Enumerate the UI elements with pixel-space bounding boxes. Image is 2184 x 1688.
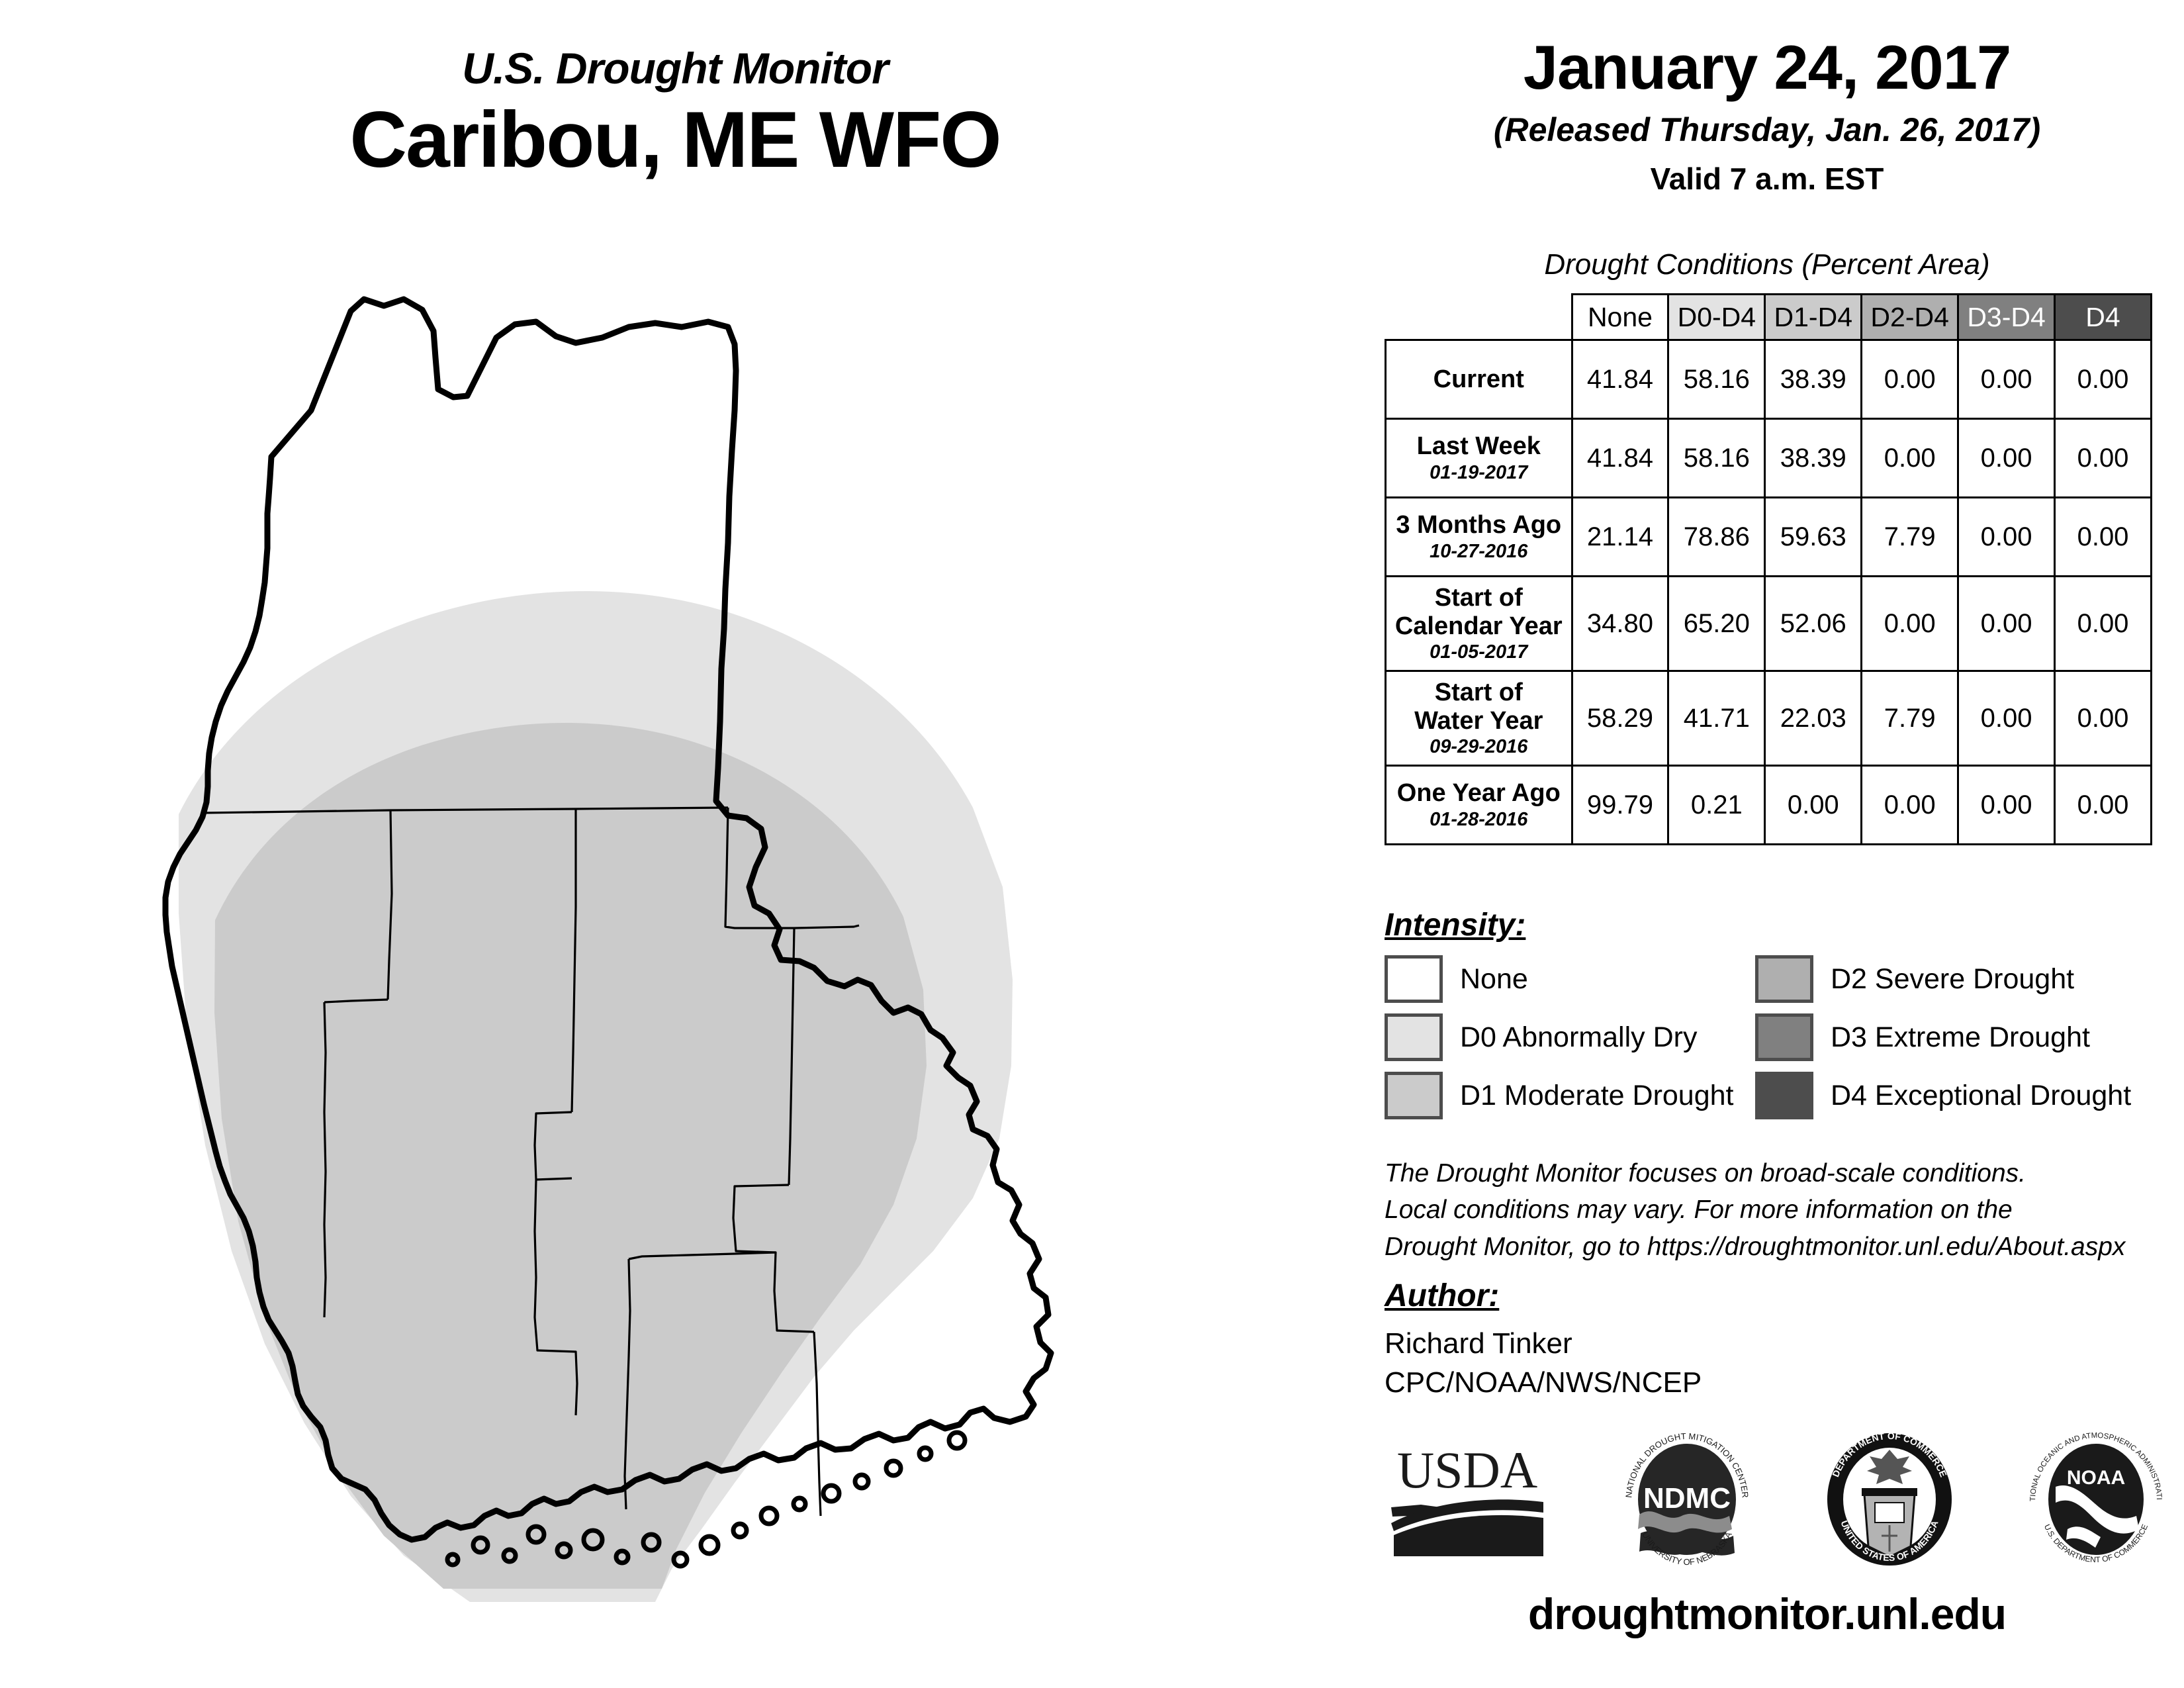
date-block: January 24, 2017 (Released Thursday, Jan… [1350, 36, 2184, 194]
table-cell: 58.16 [1668, 419, 1765, 498]
intensity-legend: Intensity: NoneD2 Severe DroughtD0 Abnor… [1385, 907, 2165, 1119]
table-cell: 0.00 [1958, 419, 2055, 498]
svg-text:NOAA: NOAA [2067, 1467, 2125, 1489]
table-cell: 52.06 [1765, 577, 1862, 671]
table-cell: 0.00 [1958, 340, 2055, 419]
table-cell: 0.00 [1958, 766, 2055, 845]
program-title: U.S. Drought Monitor [0, 46, 1350, 90]
svg-text:NDMC: NDMC [1643, 1482, 1731, 1515]
table-cell: 0.00 [1862, 419, 1958, 498]
author-heading: Author: [1385, 1278, 1499, 1314]
table-row: One Year Ago01-28-201699.790.210.000.000… [1386, 766, 2152, 845]
row-date: 09-29-2016 [1389, 736, 1569, 757]
table-cell: 7.79 [1862, 498, 1958, 577]
legend-label: D4 Exceptional Drought [1831, 1080, 2131, 1112]
legend-item: None [1385, 955, 1755, 1003]
table-cell: 21.14 [1572, 498, 1668, 577]
drought-region-d1 [214, 723, 927, 1589]
row-date: 01-05-2017 [1389, 641, 1569, 663]
table-header: NoneD0-D4D1-D4D2-D4D3-D4D4 [1386, 295, 2152, 340]
row-label: 3 Months Ago10-27-2016 [1386, 498, 1572, 577]
map-svg [73, 258, 1297, 1615]
table-col-header-d3-d4: D3-D4 [1958, 295, 2055, 340]
doc-logo: DEPARTMENT OF COMMERCE UNITED STATES OF … [1823, 1430, 1956, 1569]
svg-text:USDA: USDA [1397, 1441, 1537, 1499]
table-col-header-d0-d4: D0-D4 [1668, 295, 1765, 340]
table-cell: 0.00 [2055, 498, 2152, 577]
table-col-header-d1-d4: D1-D4 [1765, 295, 1862, 340]
legend-swatch [1755, 1013, 1813, 1061]
row-label: Last Week01-19-2017 [1386, 419, 1572, 498]
release-date: (Released Thursday, Jan. 26, 2017) [1350, 113, 2184, 146]
author-name: Richard Tinker [1385, 1324, 1702, 1363]
disclaimer-line: Local conditions may vary. For more info… [1385, 1192, 2179, 1228]
legend-swatch [1385, 1072, 1443, 1119]
table-cell: 59.63 [1765, 498, 1862, 577]
table-row: Last Week01-19-201741.8458.1638.390.000.… [1386, 419, 2152, 498]
table-row: Start ofCalendar Year01-05-201734.8065.2… [1386, 577, 2152, 671]
row-label: Start ofCalendar Year01-05-2017 [1386, 577, 1572, 671]
table-cell: 0.00 [2055, 671, 2152, 766]
row-label: Start ofWater Year09-29-2016 [1386, 671, 1572, 766]
disclaimer-line: The Drought Monitor focuses on broad-sca… [1385, 1155, 2179, 1192]
disclaimer-line: Drought Monitor, go to https://droughtmo… [1385, 1229, 2179, 1265]
table-cell: 0.00 [1958, 577, 2055, 671]
row-date: 01-19-2017 [1389, 462, 1569, 483]
table-header-row: NoneD0-D4D1-D4D2-D4D3-D4D4 [1386, 295, 2152, 340]
table-cell: 58.29 [1572, 671, 1668, 766]
valid-date: January 24, 2017 [1350, 36, 2184, 99]
table-cell: 41.84 [1572, 419, 1668, 498]
table-cell: 0.00 [1765, 766, 1862, 845]
author-affiliation: CPC/NOAA/NWS/NCEP [1385, 1363, 1702, 1402]
table-body: Current41.8458.1638.390.000.000.00Last W… [1386, 340, 2152, 845]
table-cell: 0.00 [1862, 766, 1958, 845]
table-caption: Drought Conditions (Percent Area) [1350, 248, 2184, 281]
table-cell: 99.79 [1572, 766, 1668, 845]
row-label: Current [1386, 340, 1572, 419]
table-cell: 34.80 [1572, 577, 1668, 671]
map-title-block: U.S. Drought Monitor Caribou, ME WFO [0, 46, 1350, 181]
author-info: Richard Tinker CPC/NOAA/NWS/NCEP [1385, 1324, 1702, 1403]
legend-swatch [1755, 1072, 1813, 1119]
table-col-header-none: None [1572, 295, 1668, 340]
table-cell: 65.20 [1668, 577, 1765, 671]
table-cell: 78.86 [1668, 498, 1765, 577]
noaa-logo: NOAA NATIONAL OCEANIC AND ATMOSPHERIC AD… [2026, 1430, 2165, 1569]
table-cell: 0.00 [2055, 577, 2152, 671]
info-panel: January 24, 2017 (Released Thursday, Jan… [1350, 0, 2184, 1688]
table-corner-cell [1386, 295, 1572, 340]
legend-swatch [1385, 955, 1443, 1003]
legend-label: D1 Moderate Drought [1460, 1080, 1734, 1112]
legend-label: D2 Severe Drought [1831, 963, 2074, 996]
table-cell: 0.00 [1958, 498, 2055, 577]
intensity-heading: Intensity: [1385, 907, 1525, 943]
page-title: Caribou, ME WFO [0, 98, 1350, 181]
table-cell: 41.71 [1668, 671, 1765, 766]
map-panel: U.S. Drought Monitor Caribou, ME WFO [0, 0, 1350, 1688]
legend-label: D0 Abnormally Dry [1460, 1021, 1697, 1054]
legend-swatch [1755, 955, 1813, 1003]
agency-logos: USDA NDMC NATIONAL DROUGHT MITIGATION CE… [1385, 1423, 2165, 1575]
legend-label: None [1460, 963, 1528, 996]
drought-map[interactable] [73, 258, 1297, 1615]
legend-item: D0 Abnormally Dry [1385, 1013, 1755, 1061]
legend-item: D3 Extreme Drought [1755, 1013, 2165, 1061]
legend-item: D4 Exceptional Drought [1755, 1072, 2165, 1119]
site-url[interactable]: droughtmonitor.unl.edu [1350, 1589, 2184, 1639]
table-col-header-d4: D4 [2055, 295, 2152, 340]
table-row: Current41.8458.1638.390.000.000.00 [1386, 340, 2152, 419]
table-cell: 38.39 [1765, 419, 1862, 498]
table-cell: 0.00 [2055, 766, 2152, 845]
table-cell: 0.00 [2055, 419, 2152, 498]
table-cell: 0.00 [1862, 577, 1958, 671]
table-cell: 0.00 [1862, 340, 1958, 419]
row-label: One Year Ago01-28-2016 [1386, 766, 1572, 845]
table-cell: 38.39 [1765, 340, 1862, 419]
table-row: 3 Months Ago10-27-201621.1478.8659.637.7… [1386, 498, 2152, 577]
table-cell: 0.00 [2055, 340, 2152, 419]
table-col-header-d2-d4: D2-D4 [1862, 295, 1958, 340]
table-cell: 0.21 [1668, 766, 1765, 845]
legend-swatch [1385, 1013, 1443, 1061]
row-date: 01-28-2016 [1389, 809, 1569, 830]
table-cell: 58.16 [1668, 340, 1765, 419]
table-cell: 22.03 [1765, 671, 1862, 766]
usda-logo: USDA [1385, 1430, 1550, 1569]
legend-label: D3 Extreme Drought [1831, 1021, 2090, 1054]
row-date: 10-27-2016 [1389, 541, 1569, 562]
legend-item: D1 Moderate Drought [1385, 1072, 1755, 1119]
disclaimer-text: The Drought Monitor focuses on broad-sca… [1385, 1155, 2179, 1265]
drought-conditions-table: NoneD0-D4D1-D4D2-D4D3-D4D4 Current41.845… [1385, 293, 2152, 845]
valid-time: Valid 7 a.m. EST [1350, 164, 2184, 194]
ndmc-logo: NDMC NATIONAL DROUGHT MITIGATION CENTER … [1621, 1430, 1753, 1569]
table-cell: 41.84 [1572, 340, 1668, 419]
table-cell: 7.79 [1862, 671, 1958, 766]
legend-grid: NoneD2 Severe DroughtD0 Abnormally DryD3… [1385, 955, 2165, 1119]
legend-item: D2 Severe Drought [1755, 955, 2165, 1003]
table-row: Start ofWater Year09-29-201658.2941.7122… [1386, 671, 2152, 766]
table-cell: 0.00 [1958, 671, 2055, 766]
